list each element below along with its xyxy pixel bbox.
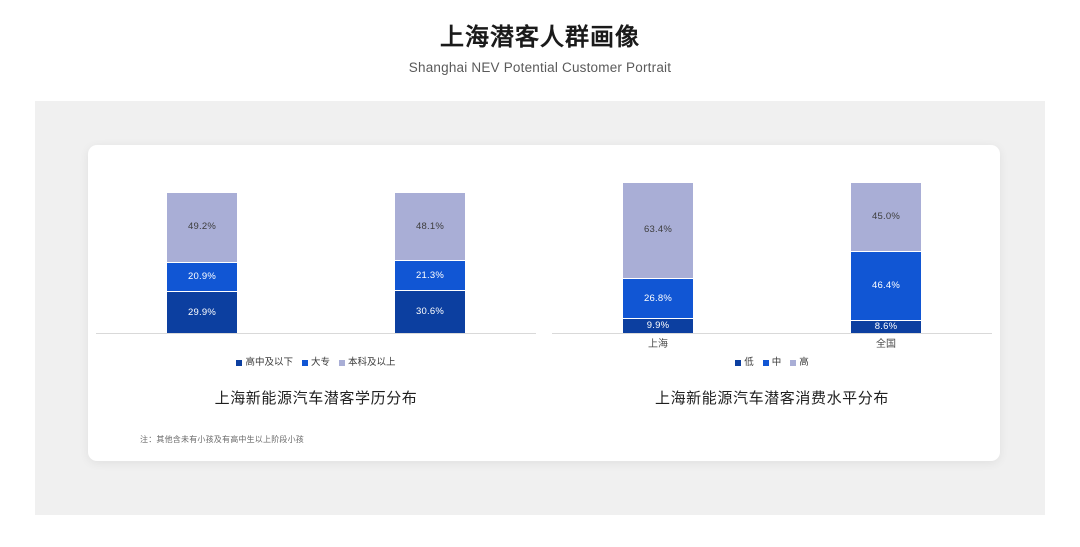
page-subtitle: Shanghai NEV Potential Customer Portrait [0,57,1080,79]
legend-label: 中 [772,357,782,369]
x-tick-label [167,337,237,355]
legend-swatch-icon [735,360,741,366]
plot-area-consumption: 63.4%26.8%9.9%45.0%46.4%8.6% [544,183,1000,333]
page-title: 上海潜客人群画像 [0,22,1080,54]
legend-item: 本科及以上 [339,357,396,369]
bar-segment-label: 26.8% [644,294,672,304]
legend-label: 本科及以上 [348,357,396,369]
chart-consumption: 63.4%26.8%9.9%45.0%46.4%8.6% 上海全国 低中高 上海… [544,145,1000,420]
bar-segment: 49.2% [167,193,237,262]
legend-swatch-icon [302,360,308,366]
x-axis-line [552,333,992,334]
bar-segment-label: 30.6% [416,307,444,317]
bar-segment: 45.0% [851,183,921,251]
stacked-bar: 48.1%21.3%30.6% [395,193,465,333]
bar-segment: 9.9% [623,318,693,333]
bar-segment-label: 29.9% [188,308,216,318]
slide-page: 上海潜客人群画像 Shanghai NEV Potential Customer… [0,0,1080,547]
charts-card: 49.2%20.9%29.9%48.1%21.3%30.6% 高中及以下大专本科… [88,145,1000,461]
x-axis-labels-education [88,337,544,355]
legend-label: 低 [744,357,754,369]
bar-segment-label: 9.9% [647,321,669,331]
bar-segment: 48.1% [395,193,465,260]
x-tick-label: 全国 [851,337,921,355]
bar-segment-label: 8.6% [875,322,897,332]
stacked-bar: 45.0%46.4%8.6% [851,183,921,333]
bar-segment: 30.6% [395,290,465,333]
bar-segment-label: 49.2% [188,222,216,232]
legend-swatch-icon [790,360,796,366]
bar-segment: 21.3% [395,260,465,290]
bar-segment: 26.8% [623,278,693,318]
footnote: 注：其他含未有小孩及有高中生以上阶段小孩 [140,434,304,446]
bar-segment: 63.4% [623,183,693,278]
plot-area-education: 49.2%20.9%29.9%48.1%21.3%30.6% [88,193,544,333]
legend-item: 大专 [302,357,330,369]
charts-row: 49.2%20.9%29.9%48.1%21.3%30.6% 高中及以下大专本科… [88,145,1000,420]
bar-segment-label: 45.0% [872,212,900,222]
x-axis-labels-consumption: 上海全国 [544,337,1000,355]
legend-swatch-icon [236,360,242,366]
bar-segment: 46.4% [851,251,921,321]
legend-swatch-icon [763,360,769,366]
stacked-bar: 63.4%26.8%9.9% [623,183,693,333]
x-tick-label [395,337,465,355]
page-header: 上海潜客人群画像 Shanghai NEV Potential Customer… [0,22,1080,79]
legend-label: 大专 [311,357,330,369]
x-tick-label: 上海 [623,337,693,355]
chart-caption-consumption: 上海新能源汽车潜客消费水平分布 [544,388,1000,410]
legend-item: 高 [790,357,809,369]
legend-item: 高中及以下 [236,357,293,369]
legend-label: 高 [799,357,809,369]
chart-caption-education: 上海新能源汽车潜客学历分布 [88,388,544,410]
legend-consumption: 低中高 [544,357,1000,369]
bar-segment: 29.9% [167,291,237,333]
legend-education: 高中及以下大专本科及以上 [88,357,544,369]
x-axis-line [96,333,536,334]
legend-item: 低 [735,357,754,369]
bar-segment: 8.6% [851,320,921,333]
stacked-bar: 49.2%20.9%29.9% [167,193,237,333]
bar-segment-label: 20.9% [188,272,216,282]
bar-segment-label: 46.4% [872,281,900,291]
legend-swatch-icon [339,360,345,366]
legend-label: 高中及以下 [245,357,293,369]
content-panel: 49.2%20.9%29.9%48.1%21.3%30.6% 高中及以下大专本科… [35,101,1045,515]
legend-item: 中 [763,357,782,369]
bar-segment: 20.9% [167,262,237,291]
bar-segment-label: 63.4% [644,225,672,235]
bar-segment-label: 21.3% [416,271,444,281]
chart-education: 49.2%20.9%29.9%48.1%21.3%30.6% 高中及以下大专本科… [88,145,544,420]
bar-segment-label: 48.1% [416,222,444,232]
